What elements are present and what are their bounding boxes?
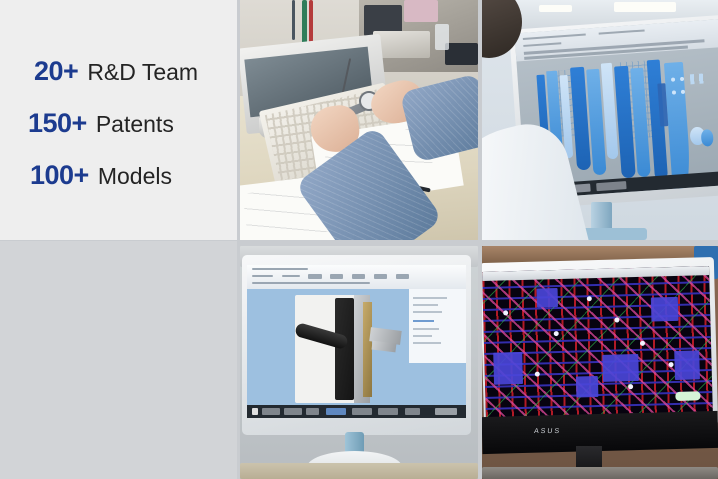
windows-taskbar[interactable] xyxy=(247,405,466,419)
photo-pcb-layout: ASUS xyxy=(482,246,718,479)
monitor-screen xyxy=(482,266,712,421)
wall-hook-tools xyxy=(292,0,295,40)
monitor-screen xyxy=(247,265,466,419)
ceiling-light xyxy=(614,2,675,12)
monitor-brand-logo: ASUS xyxy=(534,428,562,435)
stat-label: Patents xyxy=(96,111,174,138)
lock-body-model xyxy=(335,298,355,399)
pcb-component-footprint xyxy=(494,352,524,386)
stat-label: R&D Team xyxy=(87,59,198,86)
cad-ribbon-toolbar[interactable] xyxy=(247,265,466,290)
photo-desk-workstation xyxy=(240,0,478,240)
stat-item-models: 100+ Models xyxy=(30,160,198,191)
desk-surface xyxy=(482,467,718,479)
services-panel: Appearance Design Mechanical Design Appe… xyxy=(0,241,237,479)
image-collage: 20+ R&D Team 150+ Patents 100+ Models Ap… xyxy=(0,0,718,479)
glass-jar xyxy=(435,24,449,50)
stat-item-patents: 150+ Patents xyxy=(28,108,198,139)
photo-lock-3d-cad xyxy=(240,246,478,479)
desk-surface xyxy=(240,463,478,479)
stats-panel: 20+ R&D Team 150+ Patents 100+ Models xyxy=(0,0,237,240)
pcb-highlight-marker xyxy=(676,392,701,402)
photo-ship-cad xyxy=(482,0,718,240)
stat-number: 100+ xyxy=(30,160,89,191)
cad-node xyxy=(679,77,683,81)
stat-number: 150+ xyxy=(28,108,87,139)
cad-feature-tree[interactable] xyxy=(409,289,466,363)
ceiling-light xyxy=(539,5,572,12)
pcb-component-footprint xyxy=(537,288,558,308)
cad-dots xyxy=(690,74,705,85)
stat-label: Models xyxy=(98,163,172,190)
desk-mat xyxy=(445,43,478,65)
pcb-component-footprint xyxy=(602,355,639,383)
pcb-component-footprint xyxy=(675,350,701,380)
shelf-box xyxy=(404,0,437,22)
pcb-component-footprint xyxy=(576,377,599,398)
cad-node xyxy=(680,90,684,94)
stat-item-rd-team: 20+ R&D Team xyxy=(34,56,198,87)
pcb-component-footprint xyxy=(651,297,679,322)
hull-ellipse xyxy=(700,130,714,147)
stat-number: 20+ xyxy=(34,56,78,87)
wall-hook-tools xyxy=(302,0,307,46)
stats-list: 20+ R&D Team 150+ Patents 100+ Models xyxy=(34,56,198,212)
